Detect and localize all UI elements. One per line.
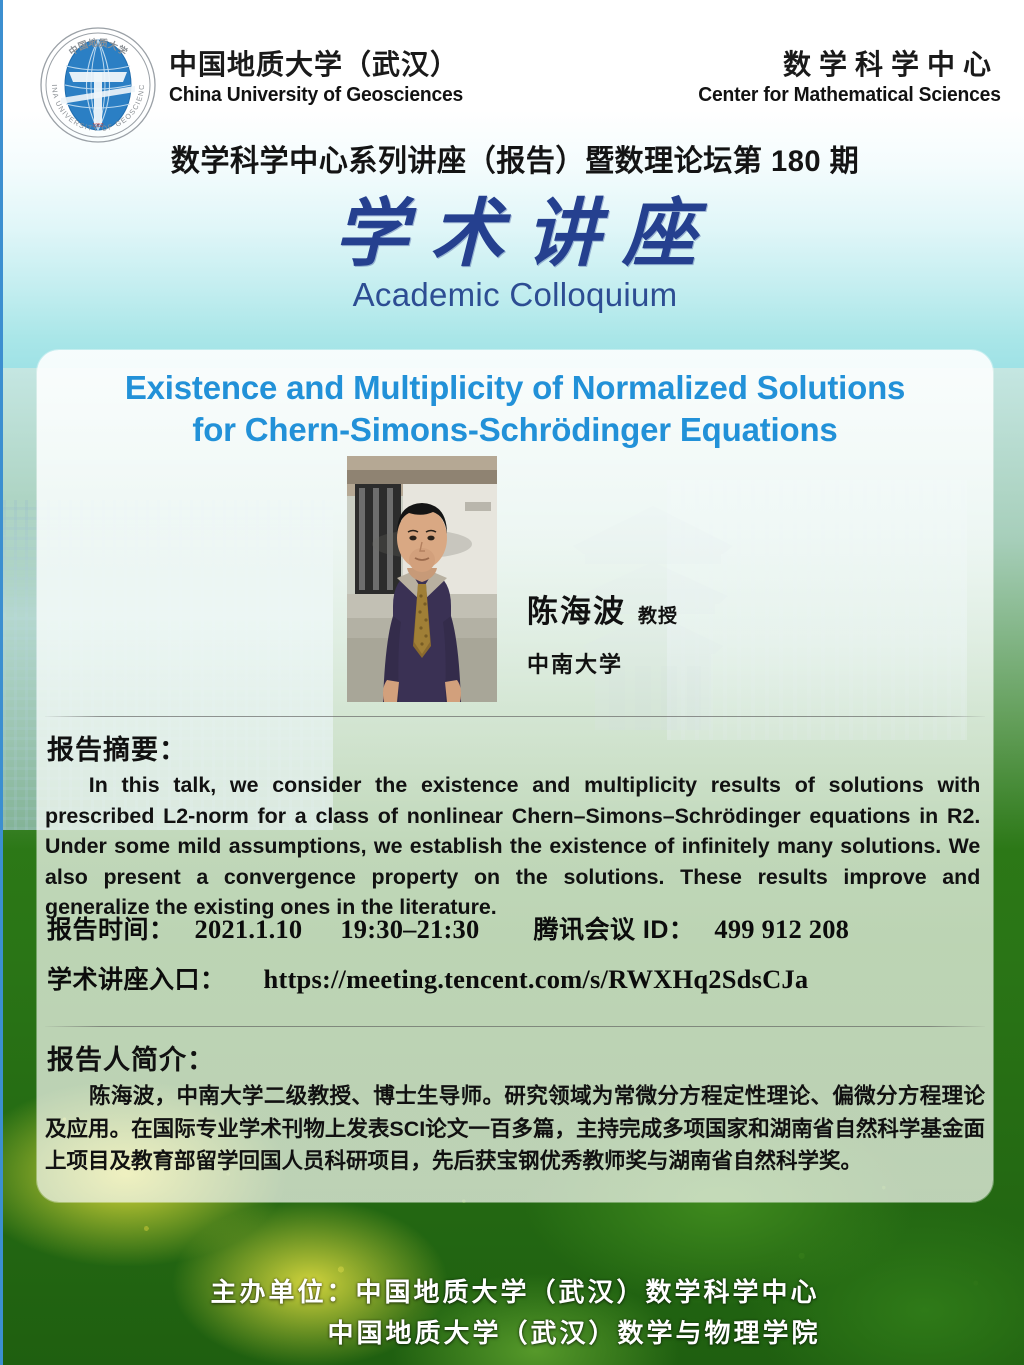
university-name-cn: 中国地质大学（武汉） <box>169 47 482 82</box>
schedule-block: 报告时间： 2021.1.10 19:30–21:30 腾讯会议 ID： 499… <box>47 910 987 996</box>
bio-text: 陈海波，中南大学二级教授、博士生导师。研究领域为常微分方程定性理论、偏微分方程理… <box>45 1080 985 1178</box>
speaker-name-row: 陈海波教授 <box>527 586 678 631</box>
meeting-url-link[interactable]: https://meeting.tencent.com/s/RWXHq2SdsC… <box>264 964 809 995</box>
talk-title: Existence and Multiplicity of Normalized… <box>44 368 986 452</box>
meeting-id-value[interactable]: 499 912 208 <box>714 914 849 945</box>
meeting-id-label: 腾讯会议 ID： <box>533 910 694 946</box>
talk-time-range: 19:30–21:30 <box>340 914 479 945</box>
calligraphy-title-en: Academic Colloquium <box>3 276 1024 314</box>
talk-title-line1: Existence and Multiplicity of Normalized… <box>44 368 986 410</box>
poster-root: 1952 中国地质大学 CHINA UNIVERSITY OF GEOSCIEN… <box>0 0 1024 1365</box>
entry-label: 学术讲座入口： <box>47 960 226 996</box>
schedule-row-entry: 学术讲座入口： https://meeting.tencent.com/s/RW… <box>47 960 987 996</box>
cug-seal-logo-icon: 1952 中国地质大学 CHINA UNIVERSITY OF GEOSCIEN… <box>39 26 157 144</box>
university-name-en: China University of Geosciences <box>169 82 463 109</box>
divider-above-bio <box>45 1026 985 1027</box>
calligraphy-title-cn: 学术讲座 <box>3 196 1024 274</box>
abstract-text: In this talk, we consider the existence … <box>45 770 980 923</box>
abstract-heading: 报告摘要： <box>47 728 187 767</box>
talk-date: 2021.1.10 <box>195 914 303 945</box>
content-card: Existence and Multiplicity of Normalized… <box>37 350 993 1202</box>
poster-footer: 主办单位：中国地质大学（武汉）数学科学中心 中国地质大学（武汉）数学与物理学院 <box>3 1272 1024 1354</box>
organizer-line-2: 中国地质大学（武汉）数学与物理学院 <box>3 1313 1024 1354</box>
speaker-info: 陈海波教授 中南大学 <box>527 586 678 679</box>
divider-above-abstract <box>45 716 985 717</box>
university-identity: 中国地质大学（武汉） China University of Geoscienc… <box>169 47 482 109</box>
bio-heading: 报告人简介： <box>47 1038 215 1077</box>
series-subtitle: 数学科学中心系列讲座（报告）暨数理论坛第 180 期 <box>18 136 1011 180</box>
speaker-portrait-photo <box>347 456 497 702</box>
speaker-name: 陈海波 <box>527 586 626 631</box>
banner-block: 学术讲座 Academic Colloquium <box>3 196 1024 314</box>
center-name-cn: 数学科学中心 <box>679 47 1001 82</box>
poster-header: 1952 中国地质大学 CHINA UNIVERSITY OF GEOSCIEN… <box>3 0 1024 200</box>
speaker-rank: 教授 <box>638 601 678 628</box>
speaker-affiliation: 中南大学 <box>527 647 678 679</box>
schedule-row-time: 报告时间： 2021.1.10 19:30–21:30 腾讯会议 ID： 499… <box>47 910 987 946</box>
time-label: 报告时间： <box>47 910 175 946</box>
talk-title-line2: for Chern-Simons-Schrödinger Equations <box>44 410 986 452</box>
organizer-line-1: 主办单位：中国地质大学（武汉）数学科学中心 <box>3 1272 1024 1313</box>
center-identity: 数学科学中心 Center for Mathematical Sciences <box>679 47 1001 109</box>
center-name-en: Center for Mathematical Sciences <box>699 82 1001 109</box>
